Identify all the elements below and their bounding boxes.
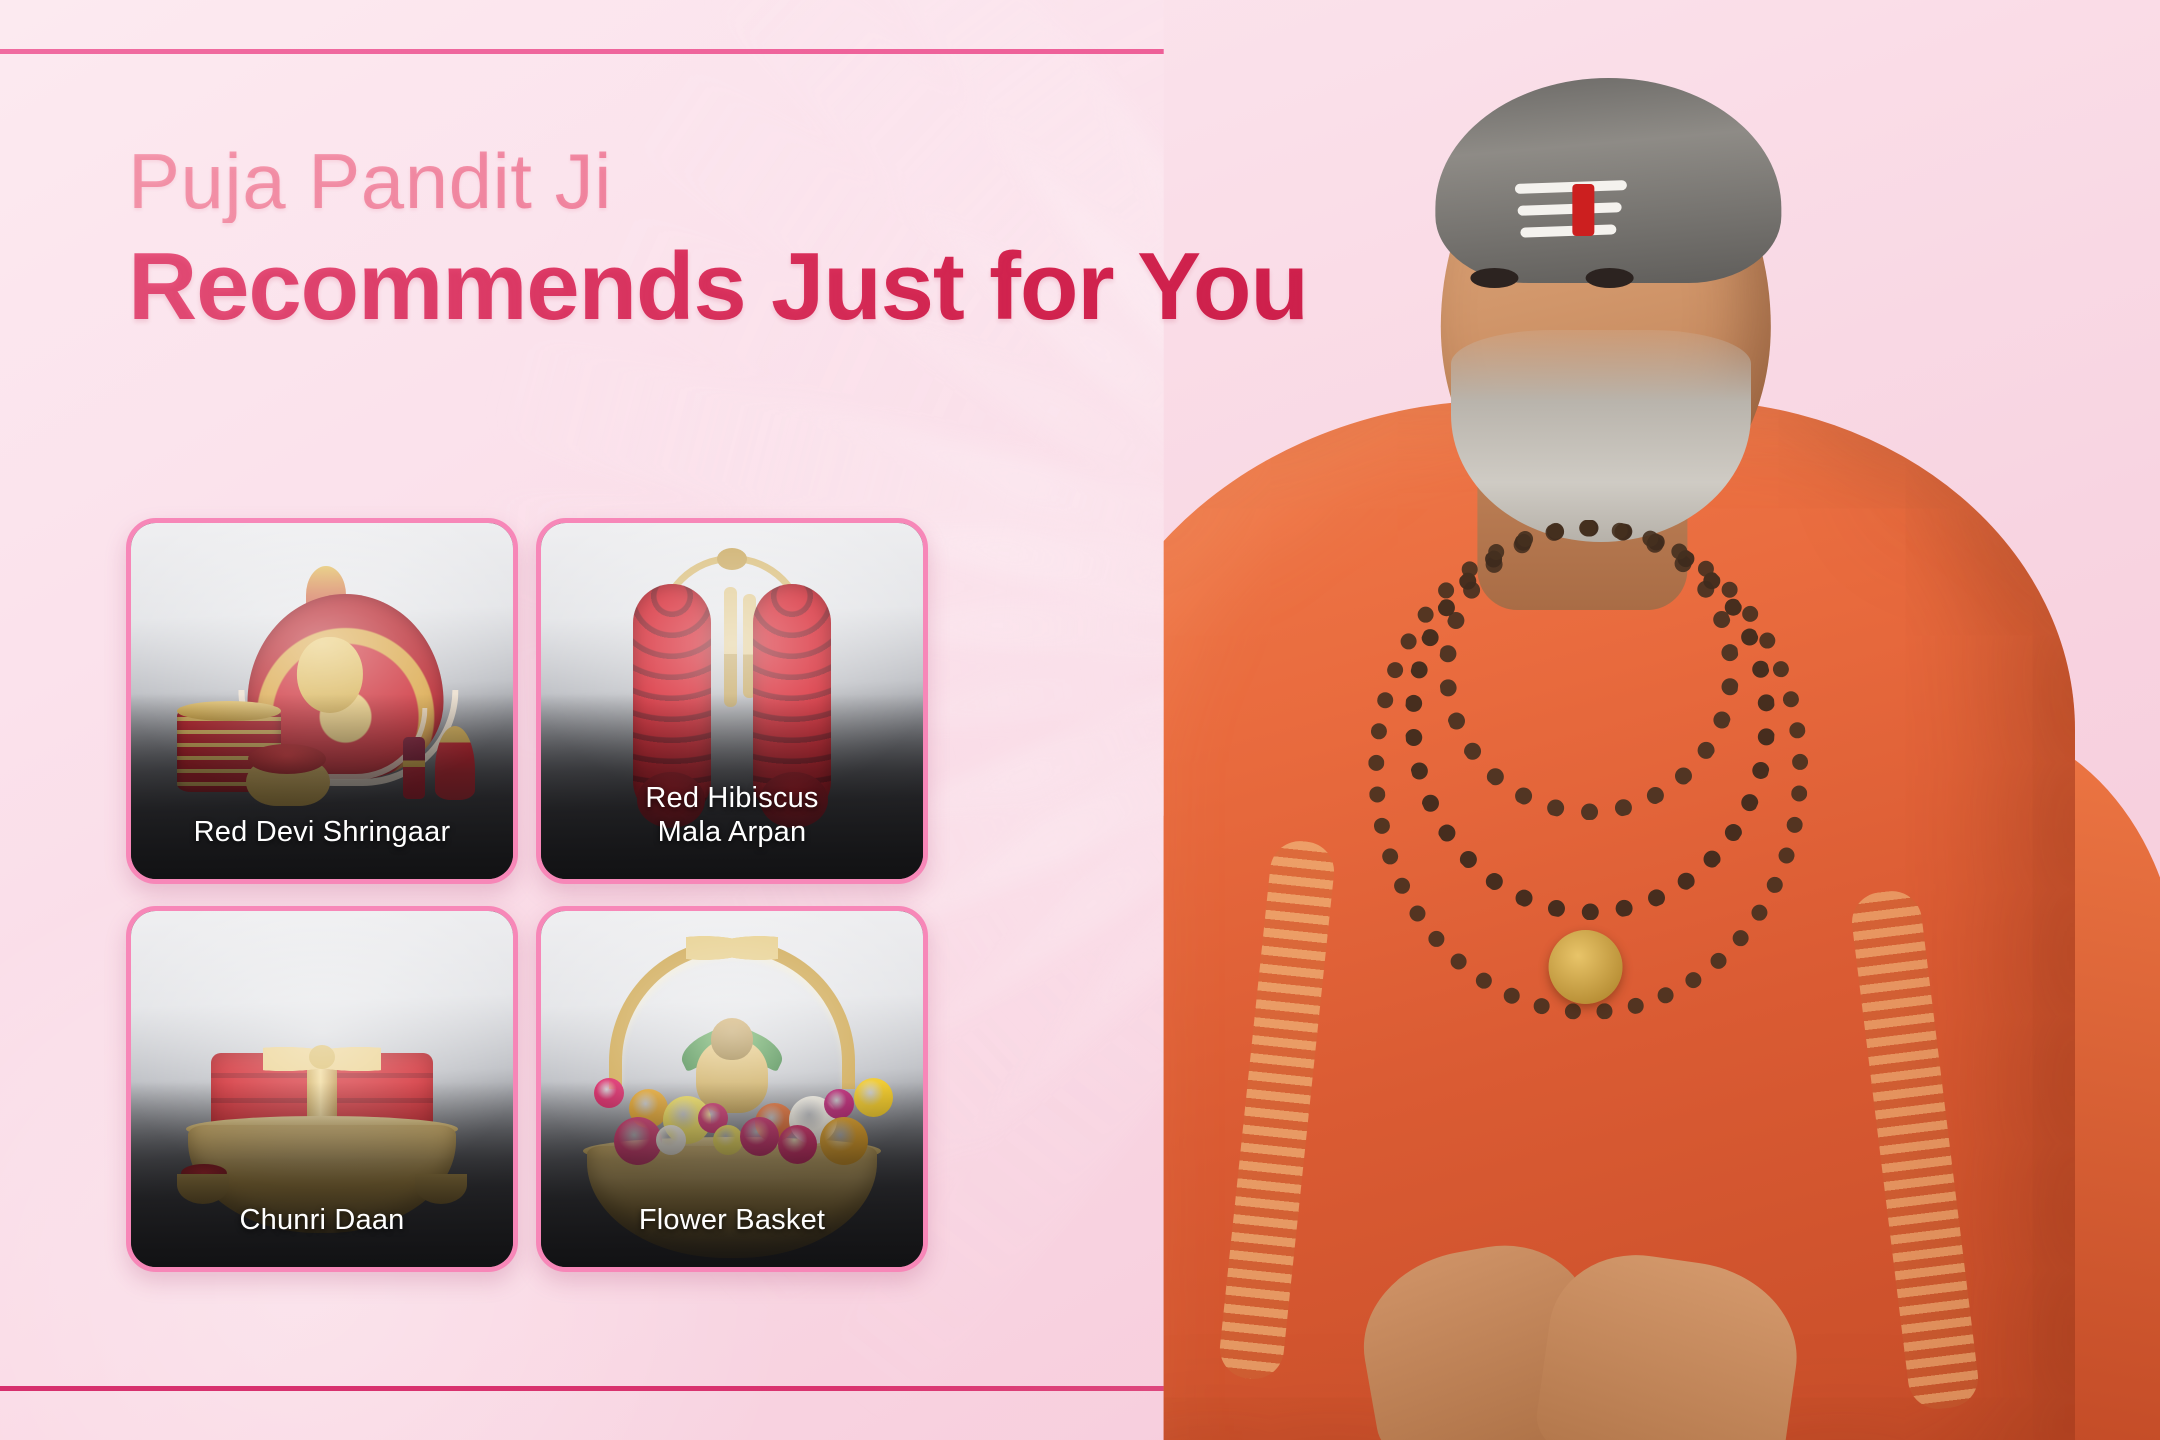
product-card-red-devi-shringaar[interactable]: Red Devi Shringaar bbox=[126, 518, 518, 884]
mala-pendant bbox=[1548, 930, 1622, 1004]
product-card-red-hibiscus-mala-arpan[interactable]: Red Hibiscus Mala Arpan bbox=[536, 518, 928, 884]
right-eye bbox=[1585, 268, 1633, 288]
heading-block: Puja Pandit Ji Recommends Just for You bbox=[128, 140, 1548, 337]
recommended-products-grid: Red Devi Shringaar Red Hibiscus bbox=[126, 518, 928, 1272]
product-card-chunri-daan[interactable]: Chunri Daan bbox=[126, 906, 518, 1272]
headline-text: Recommends Just for You bbox=[128, 237, 1548, 338]
promo-banner: Puja Pandit Ji Recommends Just for You bbox=[0, 0, 2160, 1440]
product-card-flower-basket[interactable]: Flower Basket bbox=[536, 906, 928, 1272]
kumkum-tilak-icon bbox=[1572, 184, 1594, 236]
product-label: Red Devi Shringaar bbox=[131, 815, 513, 849]
product-label: Flower Basket bbox=[541, 1203, 923, 1237]
product-label: Red Hibiscus Mala Arpan bbox=[541, 781, 923, 849]
kicker-text: Puja Pandit Ji bbox=[128, 140, 1548, 223]
product-label: Chunri Daan bbox=[131, 1203, 513, 1237]
